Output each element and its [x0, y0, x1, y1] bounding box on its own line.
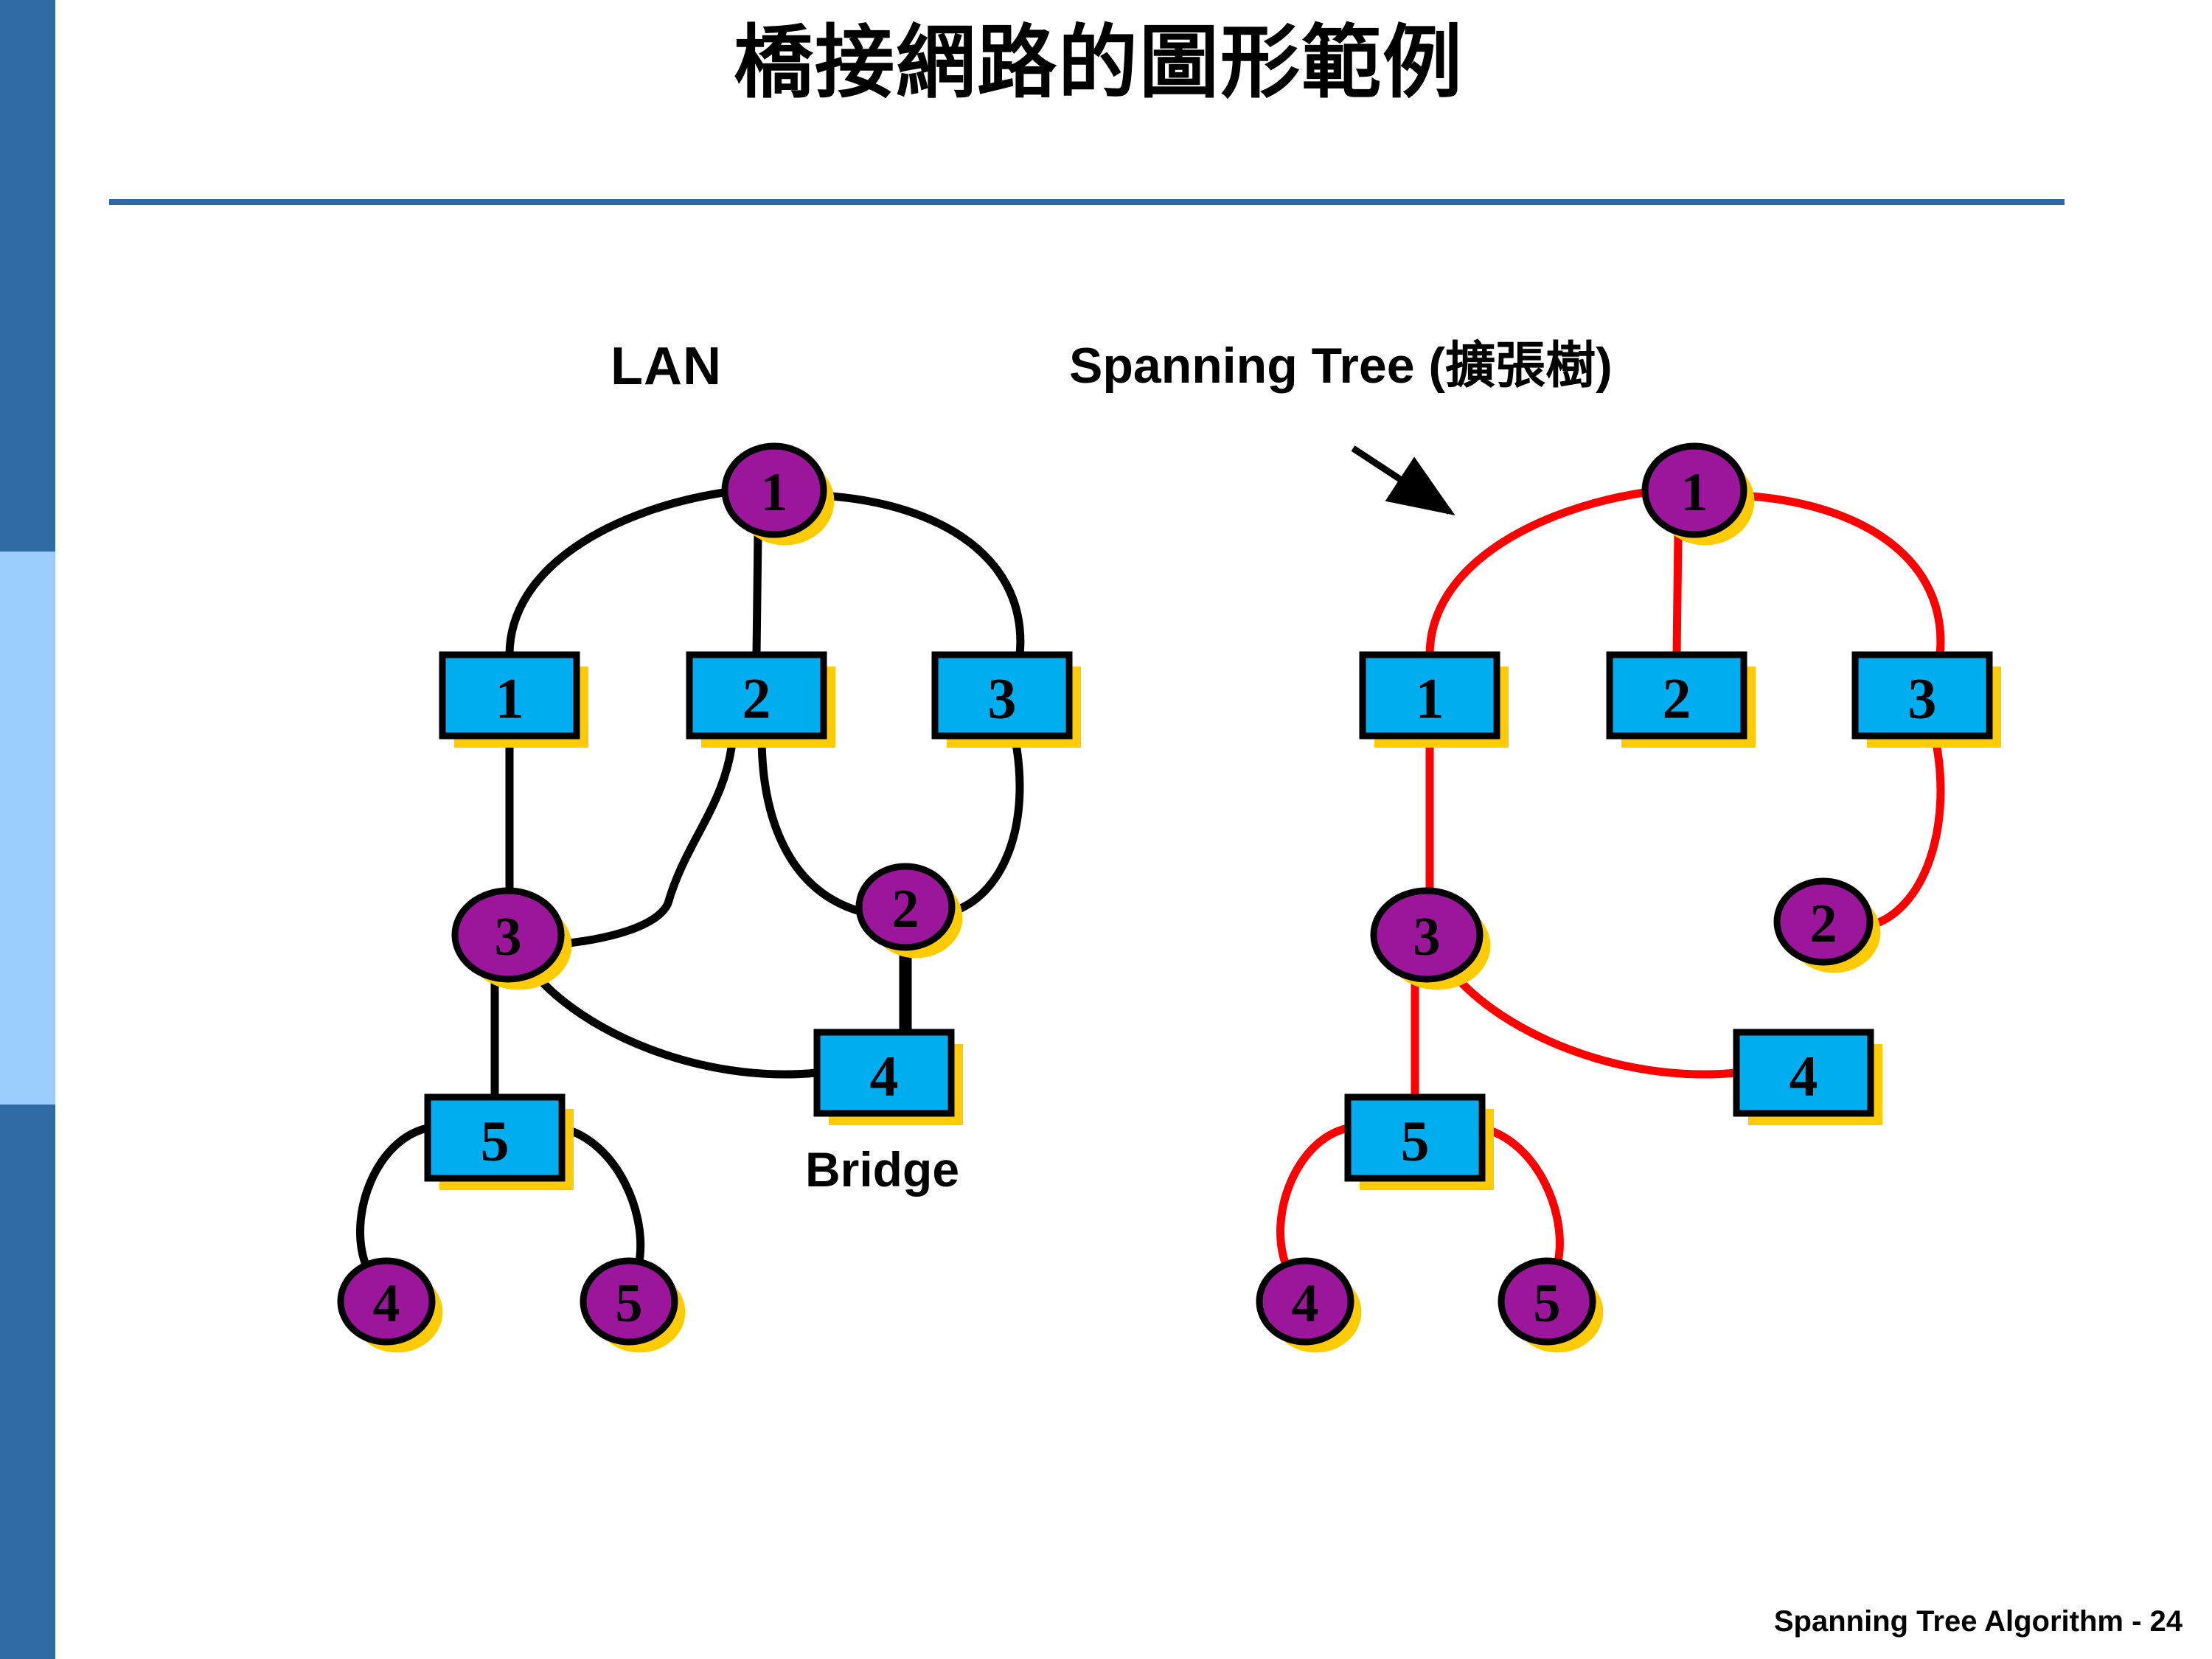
lan-node-left-1[interactable]: 1	[725, 446, 824, 535]
edge-lan1-bridge1	[509, 492, 728, 655]
lan-node-shadow	[1512, 1271, 1603, 1352]
bridge-rect	[689, 655, 824, 736]
bridge-shadow	[701, 667, 835, 748]
decorative-sidebar	[0, 0, 55, 1659]
lan-node-label: 1	[1681, 462, 1708, 523]
lan-node-label: 1	[761, 462, 788, 523]
lan-node-shadow	[594, 1271, 685, 1352]
edge-r-lan3-bridge4	[1452, 972, 1736, 1074]
slide-footer: Spanning Tree Algorithm - 24	[1774, 1605, 2183, 1638]
lan-node-circle	[1777, 881, 1870, 962]
lan-node-shadow	[735, 456, 834, 545]
lan-node-right-1[interactable]: 1	[1645, 446, 1744, 535]
graph-nodes-layer: 12345123451234512345	[341, 446, 2001, 1352]
lan-node-shadow	[1384, 901, 1490, 990]
lan-node-label: 5	[1534, 1273, 1561, 1334]
lan-node-label: 2	[1810, 894, 1837, 954]
label-lan: LAN	[611, 336, 722, 397]
bridge-rect	[817, 1032, 951, 1113]
bridge-label: 1	[1416, 667, 1444, 731]
bridge-rect	[1363, 655, 1497, 736]
edge-bridge2-lan2	[762, 736, 863, 912]
bridge-label: 5	[481, 1109, 509, 1173]
edge-r-lan1-bridge3	[1742, 495, 1941, 655]
title-divider	[109, 199, 2065, 205]
slide-canvas: 橋接網路的圖形範例	[0, 0, 2212, 1659]
lan-node-right-5[interactable]: 5	[1501, 1261, 1593, 1342]
lan-node-label: 2	[892, 879, 919, 939]
edge-lan1-bridge3	[821, 495, 1020, 655]
lan-node-right-2[interactable]: 2	[1777, 881, 1870, 962]
lan-node-left-3[interactable]: 3	[455, 891, 561, 979]
bridge-node-right-5[interactable]: 5	[1348, 1097, 1482, 1178]
bridge-node-left-2[interactable]: 2	[689, 655, 824, 736]
edge-bridge5-lan4	[361, 1128, 428, 1267]
bridge-node-right-2[interactable]: 2	[1610, 655, 1744, 736]
lan-node-label: 3	[1413, 907, 1441, 967]
page-title: 橋接網路的圖形範例	[133, 21, 2065, 104]
bridge-rect	[935, 655, 1069, 736]
bridge-shadow	[829, 1044, 963, 1125]
bridge-label: 4	[870, 1044, 899, 1108]
label-spanning-tree: Spanning Tree (擴張樹)	[1069, 324, 1613, 397]
bridge-label: 2	[742, 667, 771, 731]
lan-node-shadow	[351, 1271, 442, 1352]
edge-r-bridge5-lan4	[1281, 1128, 1348, 1267]
edge-r-lan1-bridge2	[1677, 534, 1678, 655]
bridge-label: 3	[988, 667, 1017, 731]
bridge-label: 2	[1663, 667, 1691, 731]
sidebar-band-bottom	[0, 1105, 55, 1659]
edge-r-lan1-bridge1	[1430, 492, 1649, 655]
lan-node-left-2[interactable]: 2	[859, 866, 952, 947]
lan-node-circle	[1259, 1261, 1351, 1342]
lan-node-label: 3	[495, 907, 522, 967]
lan-node-left-4[interactable]: 4	[341, 1261, 432, 1342]
lan-node-left-5[interactable]: 5	[583, 1261, 675, 1342]
network-diagram: 12345123451234512345	[0, 0, 2212, 1659]
bridge-label: 3	[1908, 667, 1937, 731]
bridge-node-left-1[interactable]: 1	[442, 655, 577, 736]
bridge-node-right-4[interactable]: 4	[1736, 1032, 1871, 1113]
edge-lan3-bridge4	[533, 972, 817, 1074]
bridge-label: 1	[495, 667, 524, 731]
lan-node-circle	[1645, 446, 1744, 535]
lan-node-label: 4	[373, 1273, 400, 1334]
lan-node-label: 4	[1292, 1273, 1319, 1334]
lan-node-label: 5	[616, 1273, 643, 1334]
edge-bridge2-lan3	[552, 736, 733, 945]
bridge-rect	[1855, 655, 1989, 736]
bridge-label: 4	[1790, 1044, 1818, 1108]
spanning-tree-pointer-arrow	[1353, 448, 1450, 512]
bridge-label: 5	[1401, 1109, 1430, 1173]
bridge-node-right-1[interactable]: 1	[1363, 655, 1497, 736]
edge-r-bridge3-lan2	[1868, 736, 1941, 926]
bridge-rect	[1736, 1032, 1871, 1113]
bridge-shadow	[1867, 667, 2001, 748]
bridge-shadow	[947, 667, 1081, 748]
lan-node-shadow	[869, 877, 962, 958]
lan-node-shadow	[1787, 891, 1880, 973]
lan-node-shadow	[1655, 456, 1754, 545]
lan-node-circle	[583, 1261, 675, 1342]
lan-node-circle	[455, 891, 561, 979]
bridge-rect	[442, 655, 577, 736]
bridge-node-left-3[interactable]: 3	[935, 655, 1069, 736]
bridge-shadow	[454, 667, 588, 748]
right-graph-edges	[1281, 492, 1941, 1267]
bridge-node-left-4[interactable]: 4	[817, 1032, 951, 1113]
bridge-shadow	[439, 1109, 574, 1190]
lan-node-circle	[725, 446, 824, 535]
edge-lan1-bridge2	[757, 534, 758, 655]
bridge-node-right-3[interactable]: 3	[1855, 655, 1989, 736]
lan-node-circle	[859, 866, 952, 947]
lan-node-right-3[interactable]: 3	[1374, 891, 1480, 979]
bridge-rect	[1348, 1097, 1482, 1178]
bridge-shadow	[1621, 667, 1756, 748]
lan-node-circle	[1501, 1261, 1593, 1342]
lan-node-shadow	[1270, 1271, 1361, 1352]
edge-bridge5-lan5	[562, 1128, 641, 1265]
bridge-shadow	[1360, 1109, 1494, 1190]
label-bridge: Bridge	[805, 1141, 959, 1197]
edge-bridge3-lan2	[951, 736, 1020, 912]
sidebar-band-middle	[0, 552, 55, 1105]
lan-node-circle	[1374, 891, 1480, 979]
edge-r-bridge5-lan5	[1482, 1128, 1559, 1265]
bridge-rect	[428, 1097, 562, 1178]
bridge-shadow	[1748, 1044, 1882, 1125]
lan-node-shadow	[465, 901, 571, 990]
lan-node-right-4[interactable]: 4	[1259, 1261, 1351, 1342]
bridge-node-left-5[interactable]: 5	[428, 1097, 562, 1178]
bridge-shadow	[1374, 667, 1509, 748]
bridge-rect	[1610, 655, 1744, 736]
lan-node-circle	[341, 1261, 432, 1342]
sidebar-band-top	[0, 0, 55, 552]
